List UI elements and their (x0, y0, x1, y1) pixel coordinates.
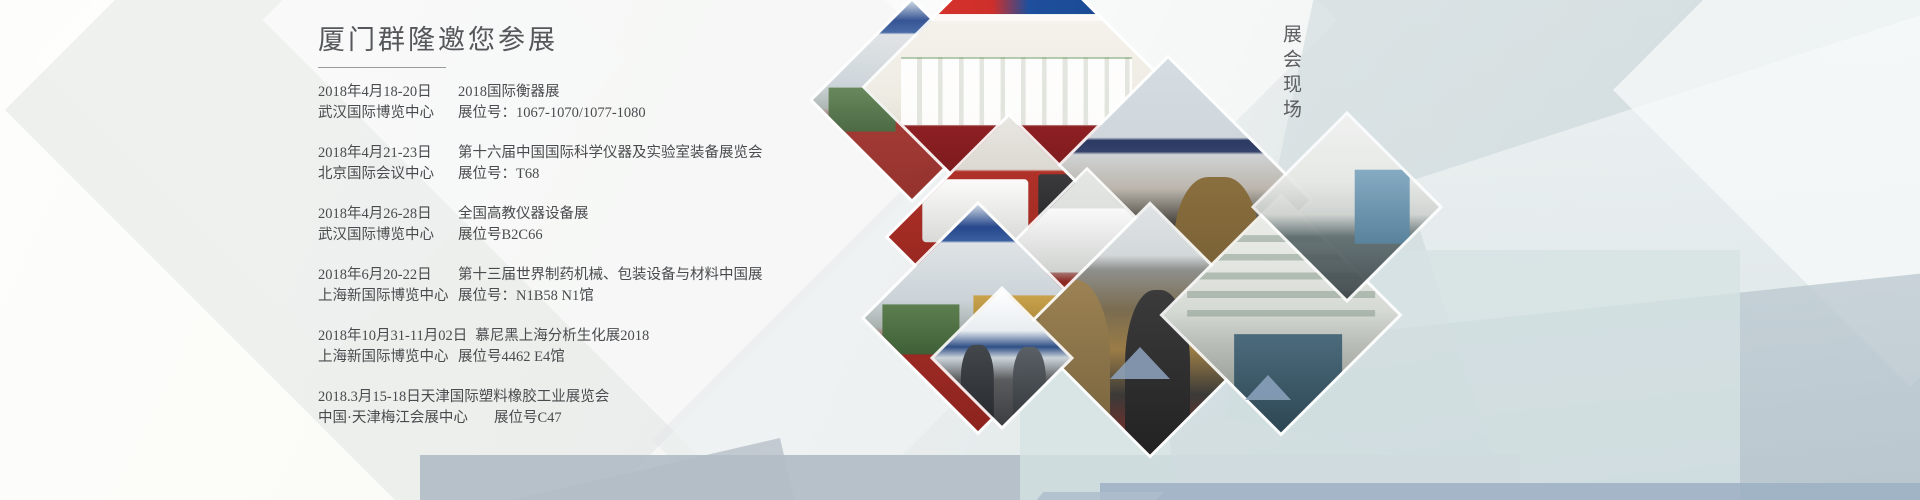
event-name: 全国高教仪器设备展 (450, 204, 589, 225)
event-booth: 展位号B2C66 (450, 225, 543, 246)
event-line-date-name: 2018年4月26-28日全国高教仪器设备展 (318, 204, 938, 225)
photo-collage (1020, 0, 1780, 492)
event-item-4: 2018年6月20-22日第十三届世界制药机械、包装设备与材料中国展 上海新国际… (318, 265, 938, 307)
event-date: 2018年4月26-28日 (318, 204, 450, 225)
event-name: 2018国际衡器展 (450, 82, 560, 103)
event-name: 第十三届世界制药机械、包装设备与材料中国展 (450, 265, 763, 286)
event-line-venue-booth: 武汉国际博览中心展位号B2C66 (318, 225, 938, 246)
event-line-date-name: 2018年10月31-11月02日慕尼黑上海分析生化展2018 (318, 326, 938, 347)
event-item-3: 2018年4月26-28日全国高教仪器设备展 武汉国际博览中心展位号B2C66 (318, 204, 938, 246)
event-booth: 展位号：N1B58 N1馆 (450, 286, 594, 307)
event-venue: 上海新国际博览中心 (318, 286, 450, 307)
decorative-bottom-bar-tail (1037, 492, 1164, 500)
event-date: 2018年4月18-20日 (318, 82, 450, 103)
event-item-2: 2018年4月21-23日第十六届中国国际科学仪器及实验室装备展览会 北京国际会… (318, 143, 938, 185)
event-booth: 展位号4462 E4馆 (450, 347, 565, 368)
event-line-venue-booth: 上海新国际博览中心展位号：N1B58 N1馆 (318, 286, 938, 307)
event-booth: 展位号：1067-1070/1077-1080 (450, 103, 646, 124)
event-date: 2018年6月20-22日 (318, 265, 450, 286)
event-date: 2018.3月15-18日天津国际塑料橡胶工业展览会 (318, 387, 609, 408)
event-line-date-name: 2018.3月15-18日天津国际塑料橡胶工业展览会 (318, 387, 938, 408)
background-facet-bottom-left-ramp (0, 438, 847, 500)
title-divider (318, 67, 446, 68)
event-date: 2018年4月21-23日 (318, 143, 450, 164)
exhibition-banner: 厦门群隆邀您参展 2018年4月18-20日2018国际衡器展 武汉国际博览中心… (0, 0, 1920, 500)
event-item-6: 2018.3月15-18日天津国际塑料橡胶工业展览会 中国·天津梅江会展中心展位… (318, 387, 938, 429)
decorative-triangle-large (1110, 347, 1170, 379)
event-line-date-name: 2018年6月20-22日第十三届世界制药机械、包装设备与材料中国展 (318, 265, 938, 286)
event-item-5: 2018年10月31-11月02日慕尼黑上海分析生化展2018 上海新国际博览中… (318, 326, 938, 368)
event-venue: 上海新国际博览中心 (318, 347, 450, 368)
event-name: 慕尼黑上海分析生化展2018 (467, 326, 649, 347)
event-venue: 中国·天津梅江会展中心 (318, 408, 486, 429)
event-line-date-name: 2018年4月21-23日第十六届中国国际科学仪器及实验室装备展览会 (318, 143, 938, 164)
event-venue: 北京国际会议中心 (318, 164, 450, 185)
event-name: 第十六届中国国际科学仪器及实验室装备展览会 (450, 143, 763, 164)
event-line-venue-booth: 北京国际会议中心展位号：T68 (318, 164, 938, 185)
event-date: 2018年10月31-11月02日 (318, 326, 467, 347)
page-title: 厦门群隆邀您参展 (318, 24, 938, 58)
decorative-bottom-bar (1100, 483, 1920, 500)
event-venue: 武汉国际博览中心 (318, 103, 450, 124)
decorative-triangle-small (1245, 375, 1291, 400)
event-line-venue-booth: 中国·天津梅江会展中心展位号C47 (318, 408, 938, 429)
event-line-venue-booth: 上海新国际博览中心展位号4462 E4馆 (318, 347, 938, 368)
event-booth: 展位号：T68 (450, 164, 539, 185)
event-booth: 展位号C47 (486, 408, 562, 429)
event-venue: 武汉国际博览中心 (318, 225, 450, 246)
